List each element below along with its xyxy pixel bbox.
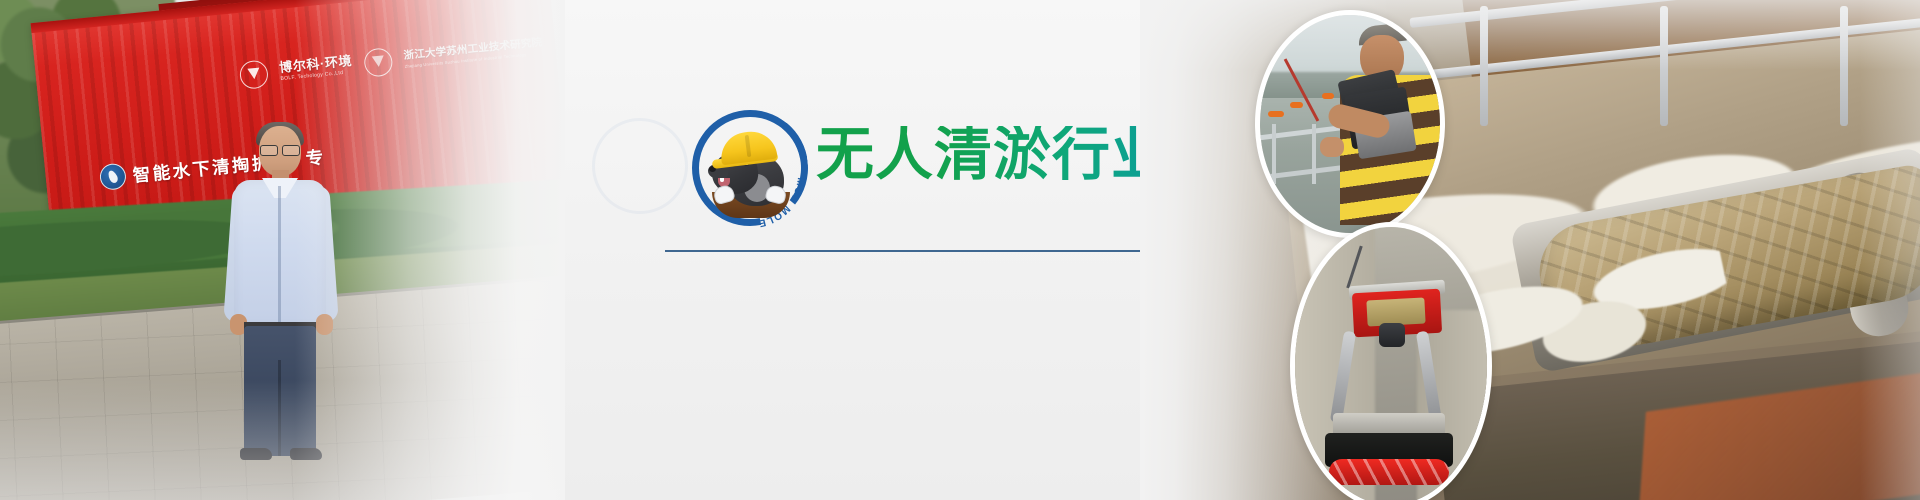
inset-photo-robot	[1290, 222, 1492, 500]
bolf-logo-icon	[239, 59, 270, 90]
operator-figure	[1334, 17, 1444, 233]
inset-photo-operator	[1255, 10, 1445, 238]
float-marker	[1322, 93, 1334, 99]
right-hero-photo	[1140, 0, 1920, 500]
slogan-badge-icon	[99, 163, 127, 191]
mole-tooth	[720, 178, 724, 182]
headline-divider	[665, 250, 1161, 252]
mole-mascot-icon	[708, 130, 794, 212]
inset-railing-post	[1312, 124, 1316, 184]
float-marker	[1290, 102, 1303, 108]
left-hero-photo: 博尔科·环境 BOLF. Techology Co.,Ltd 浙江大学苏州工业技…	[0, 0, 565, 500]
photo-edge-fade	[1860, 0, 1920, 500]
robot-motor	[1379, 323, 1405, 347]
faint-watermark-icon	[592, 118, 688, 214]
inset-railing-post	[1272, 124, 1276, 184]
shirt-placket	[278, 186, 281, 326]
mud-mole-logo: MUD MOLE	[686, 104, 814, 232]
float-marker	[1268, 111, 1284, 117]
hero-banner: 博尔科·环境 BOLF. Techology Co.,Ltd 浙江大学苏州工业技…	[0, 0, 1920, 500]
photo-right-fade	[295, 0, 565, 500]
robot-auger	[1329, 459, 1449, 485]
operator-hand	[1320, 137, 1344, 157]
